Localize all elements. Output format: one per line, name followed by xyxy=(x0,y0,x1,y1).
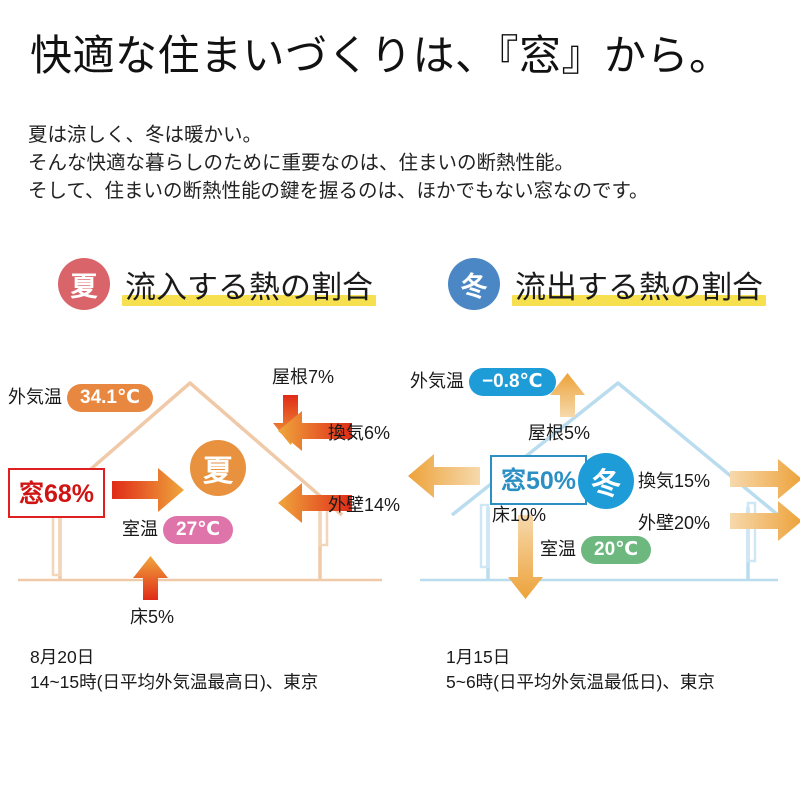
summer-diagram: 外気温 34.1℃ 屋根7% 窓68% 換気6% 外壁14% 床5% 夏 室温 … xyxy=(0,355,400,645)
lead-line-2: そんな快適な暮らしのために重要なのは、住まいの断熱性能。 xyxy=(28,150,649,177)
summer-season-badge: 夏 xyxy=(58,258,110,310)
winter-ventilation-label: 換気15% xyxy=(638,467,710,493)
summer-indoor-temp-value: 27℃ xyxy=(163,516,233,544)
summer-indoor-temp: 室温 27℃ xyxy=(122,515,233,544)
summer-outer-wall-label: 外壁14% xyxy=(328,491,400,517)
summer-indoor-temp-label: 室温 xyxy=(122,519,158,539)
summer-house-season-mark: 夏 xyxy=(190,440,246,496)
winter-house-season-mark: 冬 xyxy=(578,453,634,509)
winter-indoor-temp-label: 室温 xyxy=(540,539,576,559)
winter-indoor-temp: 室温 20℃ xyxy=(540,535,651,564)
lead-paragraph: 夏は涼しく、冬は暖かい。 そんな快適な暮らしのために重要なのは、住まいの断熱性能… xyxy=(28,122,649,206)
winter-caption-detail: 5~6時(日平均外気温最低日)、東京 xyxy=(446,670,715,695)
winter-caption-date: 1月15日 xyxy=(446,645,715,670)
winter-season-badge: 冬 xyxy=(448,258,500,310)
infographic-page: 快適な住まいづくりは、『窓』から。 夏は涼しく、冬は暖かい。 そんな快適な暮らし… xyxy=(0,0,800,800)
summer-outdoor-temp-value: 34.1℃ xyxy=(67,384,153,412)
summer-window-label: 窓68% xyxy=(8,468,105,518)
winter-floor-label: 床10% xyxy=(492,501,546,527)
winter-indoor-temp-value: 20℃ xyxy=(581,536,651,564)
summer-caption-date: 8月20日 xyxy=(30,645,318,670)
page-title: 快適な住まいづくりは、『窓』から。 xyxy=(30,22,732,83)
winter-section-title: 流出する熱の割合 xyxy=(512,262,766,307)
summer-outdoor-temp-label: 外気温 xyxy=(8,387,62,407)
summer-floor-label: 床5% xyxy=(130,603,174,629)
winter-diagram: 外気温 −0.8℃ 屋根5% 窓50% 換気15% 外壁20% 床10% 冬 室… xyxy=(400,355,800,645)
winter-caption: 1月15日 5~6時(日平均外気温最低日)、東京 xyxy=(446,645,715,695)
winter-outdoor-temp-label: 外気温 xyxy=(410,371,464,391)
summer-ventilation-label: 換気6% xyxy=(328,419,390,445)
summer-caption-detail: 14~15時(日平均外気温最高日)、東京 xyxy=(30,670,318,695)
lead-line-3: そして、住まいの断熱性能の鍵を握るのは、ほかでもない窓なのです。 xyxy=(28,178,649,205)
winter-roof-label: 屋根5% xyxy=(528,419,590,445)
winter-outdoor-temp-value: −0.8℃ xyxy=(469,368,556,396)
lead-line-1: 夏は涼しく、冬は暖かい。 xyxy=(28,122,649,149)
summer-section-header: 夏 流入する熱の割合 xyxy=(58,258,376,310)
summer-roof-label: 屋根7% xyxy=(272,363,334,389)
winter-section-header: 冬 流出する熱の割合 xyxy=(448,258,766,310)
summer-section-title: 流入する熱の割合 xyxy=(122,262,376,307)
summer-caption: 8月20日 14~15時(日平均外気温最高日)、東京 xyxy=(30,645,318,695)
winter-window-label: 窓50% xyxy=(490,455,587,505)
summer-outdoor-temp: 外気温 34.1℃ xyxy=(8,383,153,412)
winter-outer-wall-label: 外壁20% xyxy=(638,509,710,535)
winter-outdoor-temp: 外気温 −0.8℃ xyxy=(410,367,556,396)
